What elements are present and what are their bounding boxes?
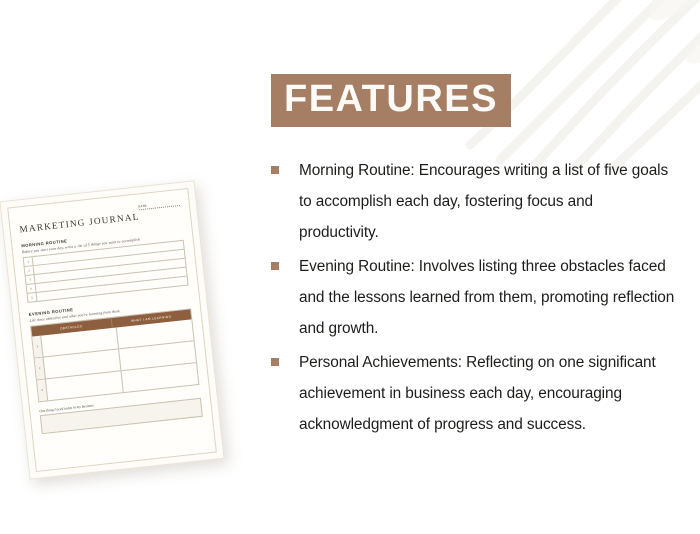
bullet-square-icon <box>271 358 279 366</box>
feature-item-morning-routine: Morning Routine: Encourages writing a li… <box>271 155 675 248</box>
journal-date-field: DATE: <box>138 201 180 210</box>
features-panel: FEATURES Morning Routine: Encourages wri… <box>271 74 675 443</box>
journal-page: MARKETING JOURNAL DATE: MORNING ROUTINE … <box>0 180 225 480</box>
feature-item-text: Morning Routine: Encourages writing a li… <box>299 162 668 241</box>
feature-item-text: Personal Achievements: Reflecting on one… <box>299 354 656 433</box>
bullet-square-icon <box>271 166 279 174</box>
evening-routine-table: OBSTACLES WHAT I AM LEARNING 1 2 3 <box>30 308 199 402</box>
features-list: Morning Routine: Encourages writing a li… <box>271 155 675 440</box>
journal-page-mockup: MARKETING JOURNAL DATE: MORNING ROUTINE … <box>8 186 223 482</box>
feature-item-personal-achievements: Personal Achievements: Reflecting on one… <box>271 347 675 440</box>
feature-item-text: Evening Routine: Involves listing three … <box>299 258 674 337</box>
journal-title: MARKETING JOURNAL <box>19 211 140 234</box>
feature-item-evening-routine: Evening Routine: Involves listing three … <box>271 251 675 344</box>
features-heading: FEATURES <box>271 74 511 127</box>
bullet-square-icon <box>271 262 279 270</box>
journal-page-content: MARKETING JOURNAL DATE: MORNING ROUTINE … <box>7 188 217 472</box>
